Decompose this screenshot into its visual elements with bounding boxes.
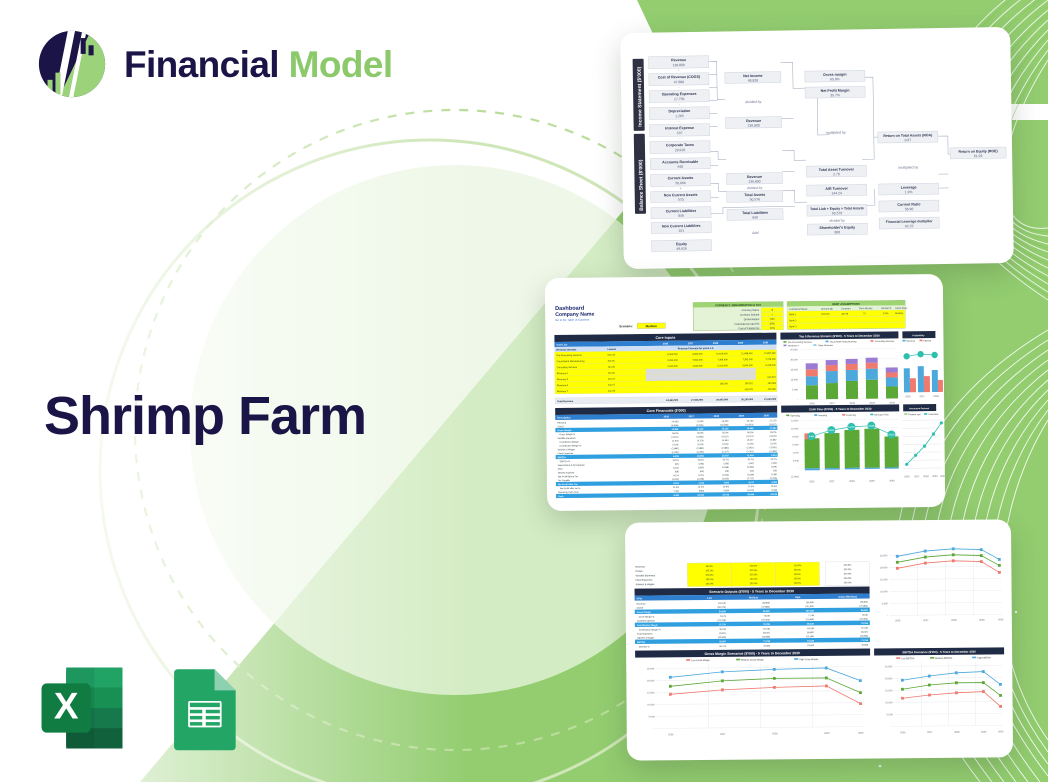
svg-text:34.7%: 34.7% (770, 459, 776, 461)
svg-text:115,136: 115,136 (718, 603, 727, 605)
svg-text:10,053: 10,053 (697, 456, 704, 458)
svg-text:Fixed Expenses: Fixed Expenses (635, 579, 653, 582)
svg-text:51.0%: 51.0% (747, 444, 753, 446)
svg-text:6,364: 6,364 (809, 435, 815, 438)
svg-text:54,856: 54,856 (719, 610, 727, 613)
svg-text:Consulting Services: Consulting Services (557, 366, 578, 369)
dashboard-card[interactable]: Dashboard Company Name Go to the Table o… (545, 274, 945, 511)
cash-flow-chart: Operating Investing Financing Net Cash F… (786, 413, 899, 483)
svg-text:(3,026): (3,026) (770, 447, 777, 449)
svg-text:Commen: Commen (841, 308, 851, 310)
svg-text:Jan-28: Jan-28 (608, 391, 616, 393)
svg-text:100.0%: 100.0% (749, 566, 757, 568)
svg-text:Grace Days: Grace Days (895, 307, 908, 310)
svg-text:(2,320): (2,320) (770, 478, 777, 480)
svg-text:8,295: 8,295 (673, 456, 679, 458)
svg-text:Net Profit Before Tax: Net Profit Before Tax (558, 475, 579, 478)
svg-text:Net Income: Net Income (743, 74, 762, 78)
svg-text:27,220: 27,220 (770, 420, 777, 422)
svg-text:Consulting Services: Consulting Services (875, 340, 895, 343)
svg-text:Contribution Margin: Contribution Margin (637, 624, 659, 627)
scenario-outputs-table: KPIsLow MediumHigh Active (Medium) Reven… (635, 594, 870, 649)
svg-text:(2,712): (2,712) (747, 478, 754, 480)
svg-text:148,200: 148,200 (720, 383, 729, 385)
svg-text:136,800: 136,800 (747, 123, 759, 127)
svg-text:7,950,000: 7,950,000 (692, 360, 703, 362)
svg-text:Interest %: Interest % (881, 307, 891, 310)
dupont-analysis-card[interactable]: Income Statement ($'000) Balance Sheet (… (620, 27, 1014, 269)
svg-text:24,450,000: 24,450,000 (666, 399, 679, 402)
svg-text:2030: 2030 (998, 730, 1004, 733)
svg-text:5,000: 5,000 (792, 388, 799, 391)
svg-text:100.0%: 100.0% (750, 574, 758, 576)
svg-text:35.7%: 35.7% (830, 93, 840, 97)
svg-text:47,880: 47,880 (674, 80, 685, 84)
svg-text:(13,899): (13,899) (860, 636, 868, 638)
svg-text:160,512: 160,512 (745, 383, 754, 385)
svg-text:2026: 2026 (663, 342, 669, 345)
svg-text:36.0%: 36.0% (697, 460, 703, 462)
svg-text:Monthly: Monthly (895, 312, 904, 315)
svg-text:24,450: 24,450 (672, 421, 679, 423)
svg-text:(198): (198) (699, 463, 704, 465)
svg-text:15,000: 15,000 (790, 368, 798, 371)
svg-text:62.22: 62.22 (905, 224, 914, 228)
svg-text:1,265: 1,265 (675, 114, 684, 118)
svg-text:(16): (16) (773, 470, 777, 472)
svg-text:10,883: 10,883 (747, 467, 754, 469)
svg-text:25,000: 25,000 (647, 667, 655, 670)
svg-text:Total Liabilities: Total Liabilities (742, 211, 768, 215)
svg-text:(3,811): (3,811) (770, 436, 777, 438)
svg-text:2030: 2030 (889, 401, 895, 404)
svg-text:10,331: 10,331 (697, 495, 704, 497)
svg-text:Tax Payable: Tax Payable (558, 480, 571, 482)
svg-text:(1,075): (1,075) (747, 490, 754, 492)
svg-text:2029: 2029 (932, 475, 938, 478)
svg-text:5,844,300: 5,844,300 (742, 365, 753, 367)
svg-text:100.0%: 100.0% (750, 583, 758, 585)
svg-text:Revenue 4: Revenue 4 (788, 345, 799, 347)
svg-text:-: - (887, 614, 888, 617)
svg-text:27,900,000: 27,900,000 (691, 399, 704, 402)
svg-text:36.7%: 36.7% (722, 459, 728, 461)
svg-text:14,994: 14,994 (722, 440, 729, 442)
scenario-assumptions-table: RevenueCOGSVariable Expenses Fixed Expen… (635, 562, 869, 588)
svg-text:36.7%: 36.7% (747, 459, 753, 461)
svg-text:10%: 10% (770, 327, 776, 330)
scenario-overview-chart: 25,00020,00015,000 10,0005,000- (880, 547, 1004, 622)
svg-text:101: 101 (678, 229, 684, 233)
svg-text:Active (Medium): Active (Medium) (838, 595, 857, 598)
svg-text:27,900: 27,900 (697, 421, 704, 423)
svg-text:25,000: 25,000 (885, 665, 893, 668)
svg-text:15,000: 15,000 (647, 691, 655, 694)
top5-revenue-chart: Pre-Processing Services Cloud Batch Manu… (783, 340, 898, 406)
svg-text:100.0%: 100.0% (843, 569, 851, 571)
slide-canvas: Financial Model Shrimp Farm X (0, 0, 1048, 782)
svg-text:(45,393): (45,393) (806, 606, 814, 608)
svg-text:65.0%: 65.0% (697, 433, 703, 435)
svg-text:Other Revenue: Other Revenue (818, 344, 834, 347)
svg-text:(181): (181) (749, 463, 754, 465)
svg-text:5,000: 5,000 (882, 602, 889, 605)
svg-text:9,280: 9,280 (771, 474, 777, 476)
svg-text:65.0%: 65.0% (770, 432, 776, 434)
svg-text:120.0%: 120.0% (793, 565, 801, 567)
svg-text:13,882: 13,882 (770, 439, 777, 441)
svg-text:Net Cash Flow: Net Cash Flow (874, 413, 889, 416)
svg-text:10,000: 10,000 (880, 590, 888, 593)
svg-text:Revenue: Revenue (637, 604, 647, 606)
svg-text:24,132: 24,132 (770, 493, 778, 496)
microsoft-excel-icon[interactable]: X (38, 664, 126, 752)
svg-text:2029: 2029 (738, 342, 744, 345)
svg-text:0.97: 0.97 (905, 138, 912, 142)
svg-text:100.0%: 100.0% (843, 565, 851, 567)
svg-text:100.0%: 100.0% (750, 579, 758, 581)
svg-text:1.9%: 1.9% (905, 190, 913, 194)
svg-text:-: - (798, 467, 799, 470)
svg-text:(2,000): (2,000) (791, 475, 799, 478)
svg-text:Depreciation: Depreciation (668, 109, 690, 113)
svg-text:COGS: COGS (637, 608, 644, 610)
svg-text:(4,221): (4,221) (747, 436, 754, 438)
svg-text:10,787: 10,787 (722, 455, 729, 457)
svg-text:EBIT: EBIT (558, 469, 564, 471)
svg-text:15,892: 15,892 (672, 429, 679, 431)
svg-text:25%: 25% (770, 322, 776, 325)
svg-text:(2,952): (2,952) (747, 447, 754, 449)
svg-text:Net Profit after tax %: Net Profit after tax % (560, 487, 580, 490)
scenario-label: Scenario: (619, 324, 633, 328)
svg-text:10,000: 10,000 (647, 703, 655, 706)
svg-text:20,000: 20,000 (880, 566, 888, 569)
svg-text:2030: 2030 (764, 414, 770, 417)
svg-text:2030: 2030 (858, 732, 864, 735)
svg-text:Medium Gross Margin: Medium Gross Margin (741, 658, 764, 661)
svg-text:EBITDA %: EBITDA % (560, 460, 570, 463)
svg-text:9,296: 9,296 (771, 466, 777, 468)
svg-text:CURRENCY, DENOMINATION & TAX: CURRENCY, DENOMINATION & TAX (715, 303, 761, 307)
svg-text:6,428,730: 6,428,730 (765, 365, 776, 367)
svg-text:High: High (795, 596, 801, 599)
investment-payback-chart: Payback year Cumulative (902, 413, 945, 479)
svg-text:Revenue 6: Revenue 6 (557, 385, 569, 387)
svg-text:2026: 2026 (668, 733, 674, 736)
svg-text:Bank 1: Bank 1 (789, 314, 797, 316)
svg-text:Contribution Margin %: Contribution Margin % (639, 628, 661, 631)
svg-text:(14,840): (14,840) (718, 637, 726, 639)
core-inputs-header: Core Inputs (655, 336, 675, 340)
svg-text:10,331: 10,331 (828, 430, 835, 432)
svg-text:91,830: 91,830 (807, 640, 814, 642)
svg-text:-: - (679, 137, 681, 141)
svg-text:164,563: 164,563 (768, 383, 777, 385)
svg-text:87,690: 87,690 (807, 645, 814, 647)
svg-text:Cumulative: Cumulative (928, 413, 939, 416)
svg-text:8,202: 8,202 (673, 467, 679, 469)
svg-text:2026: 2026 (895, 619, 901, 622)
svg-text:100.0%: 100.0% (844, 582, 852, 584)
svg-text:89,120: 89,120 (807, 623, 814, 625)
svg-text:Current Ratio: Current Ratio (897, 202, 921, 206)
svg-text:(2,448): (2,448) (697, 479, 704, 481)
google-sheets-icon[interactable] (160, 664, 248, 752)
svg-text:Apr-26: Apr-26 (608, 360, 616, 363)
band-income-statement: Income Statement ($'000) (637, 66, 644, 127)
svg-text:48,828: 48,828 (748, 79, 759, 83)
svg-text:Investing: Investing (818, 414, 828, 417)
svg-text:95.0%: 95.0% (794, 578, 801, 580)
svg-text:2028: 2028 (923, 475, 929, 478)
svg-text:Add: Add (751, 231, 759, 235)
svg-text:9,855: 9,855 (698, 467, 704, 469)
svg-text:100,000: 100,000 (821, 314, 830, 316)
svg-text:multiplied by: multiplied by (826, 131, 846, 135)
svg-text:18,134: 18,134 (697, 428, 705, 431)
svg-text:Financing: Financing (846, 415, 856, 417)
svg-text:65.0%: 65.0% (830, 77, 840, 81)
svg-text:9,461: 9,461 (771, 454, 777, 457)
svg-text:12,470: 12,470 (672, 440, 679, 442)
svg-text:Total Revenue: Total Revenue (557, 400, 574, 403)
svg-text:(34): (34) (750, 471, 754, 473)
svg-text:Revenue 7: Revenue 7 (557, 391, 569, 393)
svg-text:37,710: 37,710 (719, 624, 726, 626)
svg-text:Currency Subunit: Currency Subunit (740, 313, 760, 316)
svg-text:Total Assets: Total Assets (744, 193, 765, 197)
svg-text:58.90: 58.90 (905, 207, 914, 211)
svg-text:10,000: 10,000 (791, 378, 799, 381)
svg-text:70,768: 70,768 (861, 623, 868, 625)
svg-text:11,688,600: 11,688,600 (741, 353, 753, 355)
brand-wordmark: Financial Model (124, 46, 393, 83)
svg-text:63,188: 63,188 (807, 628, 814, 630)
investment-payback-header: Investment Payback (909, 407, 930, 410)
svg-text:15,377: 15,377 (747, 440, 754, 442)
svg-text:65.0%: 65.0% (722, 432, 728, 434)
svg-text:(68): (68) (675, 471, 679, 473)
gross-margin-scenarios-chart: Low Gross Margin Medium Gross Margin Hig… (647, 658, 865, 737)
svg-text:Jan-27: Jan-27 (608, 385, 616, 387)
svg-text:2027: 2027 (720, 733, 726, 736)
svg-text:26.9%: 26.9% (723, 486, 729, 488)
scenarios-card[interactable]: RevenueCOGSVariable Expenses Fixed Expen… (625, 519, 1013, 760)
svg-text:14,228: 14,228 (697, 440, 704, 442)
svg-text:20,288: 20,288 (868, 425, 875, 427)
svg-text:10,626,000: 10,626,000 (716, 353, 728, 355)
svg-text:537: 537 (677, 131, 683, 135)
ebitda-scenarios-chart: Low EBITDA Medium EBITDA High EBITDA 25,… (885, 656, 1004, 734)
svg-text:24,132: 24,132 (888, 433, 895, 436)
svg-text:10,540: 10,540 (722, 475, 729, 477)
svg-text:100.0%: 100.0% (844, 574, 852, 576)
svg-text:8,000: 8,000 (792, 435, 799, 438)
svg-text:7,308,000: 7,308,000 (717, 359, 728, 361)
currency-denomination-tax-block: CURRENCY, DENOMINATION & TAX Currency Na… (693, 302, 783, 331)
svg-text:Currency Name: Currency Name (742, 309, 760, 312)
svg-text:High Gross Margin: High Gross Margin (799, 658, 819, 661)
page-title: Shrimp Farm (44, 388, 366, 445)
core-financials-table: Description 20262027 20282029 2030 Reven… (555, 413, 778, 499)
svg-text:Corporate Taxes: Corporate Taxes (666, 143, 694, 147)
svg-text:Corporate tax rate (%): Corporate tax rate (%) (735, 323, 760, 326)
svg-text:17,693: 17,693 (770, 428, 777, 430)
svg-text:107,188: 107,188 (806, 610, 815, 612)
svg-text:(4,116): (4,116) (722, 436, 729, 438)
svg-text:Variable Expenses: Variable Expenses (635, 574, 656, 577)
svg-text:2026: 2026 (809, 480, 815, 483)
svg-text:51.0%: 51.0% (697, 444, 703, 446)
svg-text:12,857,460: 12,857,460 (764, 353, 776, 355)
svg-text:Depreciation & Amortisation: Depreciation & Amortisation (558, 464, 586, 467)
brand-lockup: Financial Model (36, 28, 393, 100)
svg-text:(19,363): (19,363) (762, 619, 770, 621)
svg-text:Amount ($): Amount ($) (821, 307, 833, 310)
svg-text:(2,880): (2,880) (672, 448, 679, 450)
svg-text:95.0%: 95.0% (794, 570, 801, 572)
svg-text:A/R Turnover: A/R Turnover (825, 187, 848, 191)
svg-text:17,758: 17,758 (674, 97, 685, 101)
svg-text:Net Profit Margin: Net Profit Margin (821, 88, 850, 92)
svg-text:2029: 2029 (869, 402, 875, 405)
svg-text:(19,363): (19,363) (860, 619, 868, 621)
svg-text:X: X (54, 686, 79, 727)
svg-text:86,920: 86,920 (861, 610, 868, 612)
svg-text:10,000: 10,000 (791, 427, 799, 430)
svg-text:26.3%: 26.3% (698, 487, 704, 489)
svg-text:49,626: 49,626 (676, 247, 687, 251)
svg-text:65.00: 65.00 (862, 615, 868, 617)
svg-text:Gross Margin: Gross Margin (637, 612, 652, 614)
svg-text:4,830,000: 4,830,000 (692, 366, 703, 368)
svg-text:(2,880): (2,880) (722, 448, 729, 450)
svg-text:136,800: 136,800 (673, 63, 685, 67)
svg-text:136,800: 136,800 (748, 179, 760, 183)
svg-text:32,590: 32,590 (763, 645, 770, 647)
svg-text:(49): (49) (725, 471, 729, 473)
svg-text:Low Gross Margin: Low Gross Margin (691, 659, 710, 662)
svg-text:Contribution Margin: Contribution Margin (559, 441, 579, 444)
svg-text:DEBT ASSUMPTIONS: DEBT ASSUMPTIONS (832, 302, 860, 306)
svg-text:Revenue: Revenue (557, 422, 567, 424)
svg-text:(1,395): (1,395) (770, 451, 777, 453)
svg-text:Low: Low (707, 597, 712, 600)
svg-text:Non Current Assets: Non Current Assets (664, 193, 698, 198)
svg-text:2028: 2028 (954, 731, 960, 734)
svg-text:2030: 2030 (998, 618, 1004, 621)
svg-text:33.9%: 33.9% (672, 460, 678, 462)
svg-text:Interest Expense: Interest Expense (665, 126, 694, 130)
svg-text:Jan-27: Jan-27 (608, 379, 616, 381)
svg-text:25,000: 25,000 (790, 348, 798, 351)
svg-text:51.0%: 51.0% (770, 443, 776, 445)
svg-text:Revenue 4: Revenue 4 (557, 373, 569, 375)
band-balance-sheet: Balance Sheet ($'000) (638, 159, 645, 211)
svg-text:Cost Line: Cost Line (556, 343, 568, 346)
svg-text:(1,361): (1,361) (747, 451, 754, 453)
file-format-icons: X (38, 664, 248, 752)
svg-text:138,800: 138,800 (762, 602, 771, 604)
svg-text:814,572: 814,572 (768, 377, 777, 379)
svg-text:52,867: 52,867 (719, 641, 726, 643)
svg-text:948: 948 (677, 165, 683, 169)
svg-text:Term Months: Term Months (859, 307, 873, 310)
svg-text:Gross Margin %: Gross Margin % (559, 433, 575, 436)
cash-flow-header: Cash Flow ($'000) - 5 Years to December … (809, 407, 872, 412)
svg-text:Current Liabilities: Current Liabilities (666, 209, 697, 213)
svg-text:Revenue 5: Revenue 5 (557, 379, 569, 381)
svg-text:(2,635): (2,635) (722, 478, 729, 480)
svg-text:Jan-26: Jan-26 (608, 373, 616, 375)
svg-text:EBITDA: EBITDA (558, 456, 567, 459)
svg-text:2029: 2029 (824, 732, 830, 735)
svg-text:144.24: 144.24 (831, 191, 842, 195)
svg-text:(3,422): (3,422) (672, 437, 679, 439)
svg-text:71.48: 71.48 (808, 615, 814, 617)
svg-text:36,198: 36,198 (719, 629, 726, 631)
svg-text:20,288: 20,288 (747, 494, 754, 496)
svg-text:Low EBITDA: Low EBITDA (901, 657, 915, 660)
svg-text:Payback year: Payback year (908, 413, 921, 416)
svg-text:19,110: 19,110 (722, 428, 729, 430)
svg-text:80.0%: 80.0% (706, 566, 713, 568)
svg-text:2027: 2027 (914, 475, 920, 478)
svg-text:-: - (797, 398, 798, 401)
svg-text:15,000: 15,000 (880, 578, 888, 581)
svg-text:5,366: 5,366 (772, 490, 778, 492)
ebitda-scenarios-header: EBITDA Scenarios ($'000) - 5 Years to De… (902, 650, 976, 655)
svg-text:Cloud Batch Manufacturing: Cloud Batch Manufacturing (557, 360, 585, 363)
svg-text:Salaries & Wages: Salaries & Wages (558, 448, 576, 451)
svg-text:EBITDA %: EBITDA % (639, 645, 649, 648)
svg-text:-: - (679, 103, 681, 107)
svg-text:2026: 2026 (905, 395, 911, 398)
svg-text:Gross Margin: Gross Margin (557, 430, 572, 432)
svg-text:100.0%: 100.0% (844, 578, 852, 580)
scenario-value: Medium (646, 324, 658, 328)
top5-revenue-header: Top 5 Revenue Streams ($'000) - 5 Years … (799, 334, 880, 339)
svg-text:2029: 2029 (981, 731, 987, 734)
svg-text:2027: 2027 (927, 731, 933, 734)
svg-text:2027: 2027 (688, 342, 694, 345)
svg-text:7,343: 7,343 (698, 482, 704, 485)
svg-text:5,694: 5,694 (724, 490, 730, 492)
svg-text:Cloud Batch Manufacturing: Cloud Batch Manufacturing (830, 340, 857, 343)
svg-text:138,800: 138,800 (860, 602, 869, 604)
core-financials-header: Core Financials ($'000) (647, 409, 687, 413)
svg-text:multiplied by: multiplied by (898, 165, 918, 169)
svg-text:849: 849 (678, 214, 684, 218)
svg-text:50,006: 50,006 (675, 181, 686, 185)
svg-text:Nov-26: Nov-26 (608, 355, 616, 357)
svg-text:8,400,000: 8,400,000 (667, 354, 678, 356)
svg-text:(665): (665) (699, 490, 704, 492)
svg-text:Cost of Capital (%): Cost of Capital (%) (738, 327, 759, 330)
svg-text:divided by: divided by (745, 100, 761, 104)
svg-text:50,576: 50,576 (750, 198, 761, 202)
svg-text:(198): (198) (724, 463, 729, 465)
svg-text:Leverage: Leverage (901, 185, 917, 189)
brand-word-financial: Financial (124, 44, 279, 85)
svg-text:2026: 2026 (904, 475, 910, 478)
svg-text:'000: '000 (770, 318, 775, 321)
svg-text:(23,136): (23,136) (718, 620, 726, 622)
svg-text:51.0%: 51.0% (672, 444, 678, 446)
svg-text:400,070: 400,070 (745, 389, 754, 391)
svg-text:Jan-26: Jan-26 (841, 314, 849, 316)
